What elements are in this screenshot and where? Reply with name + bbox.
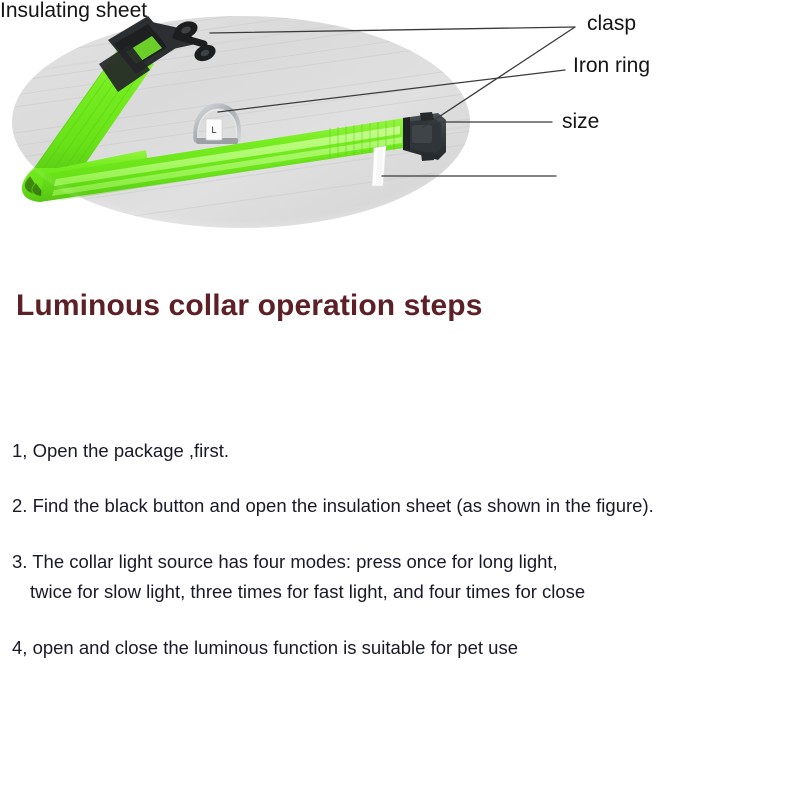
callout-label-size: size [562,111,599,132]
product-diagram: L [0,0,800,245]
step-1-text: 1, Open the package ,first. [12,440,229,461]
callout-label-clasp: clasp [587,13,636,34]
step-2-text: 2. Find the black button and open the in… [12,495,654,516]
step-3-text: 3. The collar light source has four mode… [12,551,558,572]
instruction-step-3: 3. The collar light source has four mode… [12,550,788,605]
step-4-text: 4, open and close the luminous function … [12,637,518,658]
product-photo-svg: L [0,0,800,245]
instruction-steps-list: 1, Open the package ,first. 2. Find the … [12,420,788,661]
instruction-step-1: 1, Open the package ,first. [12,439,788,464]
step-3-continuation: twice for slow light, three times for fa… [12,580,788,605]
callout-label-insulating-sheet: Insulating sheet [0,0,147,21]
surface-oval: L [0,0,472,238]
instruction-step-2: 2. Find the black button and open the in… [12,494,788,519]
instruction-step-4: 4, open and close the luminous function … [12,636,788,661]
page-title: Luminous collar operation steps [16,289,483,322]
callout-label-iron-ring: Iron ring [573,55,650,76]
